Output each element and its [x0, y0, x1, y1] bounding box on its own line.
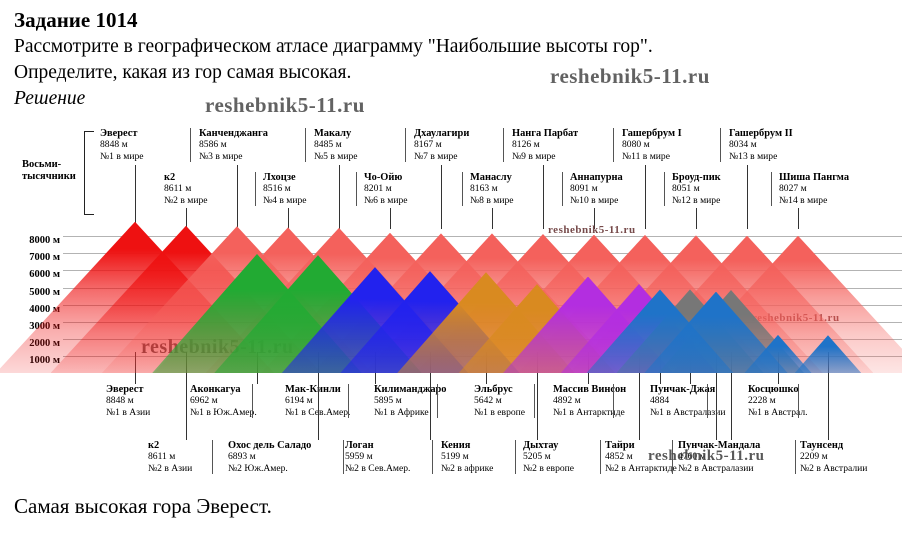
peak-height: 6194 м: [285, 395, 313, 406]
watermark: reshebnik5-11.ru: [648, 448, 765, 465]
peak-rank: №6 в мире: [364, 195, 408, 206]
peak-name: Манаслу: [470, 172, 512, 183]
y-axis-tick-5000: 5000 м: [0, 282, 60, 300]
group-label-line2: тысячники: [22, 171, 76, 182]
peak-rank: №11 в мире: [622, 151, 670, 162]
y-axis-tick-label: 6000 м: [29, 269, 60, 280]
peak-name: Пунчак-Джая: [650, 384, 715, 395]
label-separator-9: [432, 440, 433, 474]
peak-height: 8027 м: [779, 183, 807, 194]
peak-name: Тайри: [605, 440, 635, 451]
peak-height: 8080 м: [622, 139, 650, 150]
peak-height: 8611 м: [164, 183, 191, 194]
peak-name: Массив Винсон: [553, 384, 626, 395]
peak-height: 5199 м: [441, 451, 469, 462]
peak-rank: №2 в мире: [164, 195, 208, 206]
peak-height: 5205 м: [523, 451, 551, 462]
peak-label: Броуд-пик8051 м№12 в мире: [672, 172, 721, 206]
peak-label: Гашербрум II8034 м№13 в мире: [729, 128, 793, 162]
peak-rank: №2 в Азии: [148, 463, 192, 474]
peak-rank: №3 в мире: [199, 151, 243, 162]
peak-name: Килиманджаро: [374, 384, 447, 395]
peak-label: Дыхтау5205 м№2 в европе: [523, 440, 574, 474]
top-label-separator-5: [720, 128, 721, 162]
leader-line: [339, 165, 340, 229]
peak-height: 8586 м: [199, 139, 227, 150]
peak-height: 8516 м: [263, 183, 291, 194]
peak-height: 8611 м: [148, 451, 175, 462]
peak-name: Канченджанга: [199, 128, 268, 139]
peak-name: Таунсенд: [800, 440, 843, 451]
peak-label: Лхоцзе8516 м№4 в мире: [263, 172, 307, 206]
peak-height: 2228 м: [748, 395, 776, 406]
leader-line: [696, 208, 697, 229]
peak-rank: №1 в Австралазии: [650, 407, 726, 418]
peak-name: Гашербрум II: [729, 128, 793, 139]
peak-label: Эверест8848 м№1 в Азии: [106, 384, 150, 418]
top-label-separator-3: [503, 128, 504, 162]
peak-name: Шиша Пангма: [779, 172, 849, 183]
peak-height: 8848 м: [106, 395, 134, 406]
peak-name: Эверест: [106, 384, 144, 395]
leader-line: [237, 165, 238, 229]
label-separator-1: [348, 384, 349, 418]
peak-height: 8126 м: [512, 139, 540, 150]
peak-height: 8051 м: [672, 183, 700, 194]
peak-height: 5959 м: [345, 451, 373, 462]
peak-height: 8485 м: [314, 139, 342, 150]
group-label: Восьми- тысячники: [22, 159, 82, 183]
peak-height: 8034 м: [729, 139, 757, 150]
leader-line: [390, 208, 391, 229]
peak-rank: №10 в мире: [570, 195, 618, 206]
peak-label: Дхаулагири8167 м№7 в мире: [414, 128, 469, 162]
label-separator-11: [600, 440, 601, 474]
question-line-2: Определите, какая из гор самая высокая.: [14, 62, 351, 84]
peak-height: 4852 м: [605, 451, 633, 462]
top-label-separator-1: [305, 128, 306, 162]
peak-name: Мак-Кинли: [285, 384, 341, 395]
peak-name: Охос дель Саладо: [228, 440, 311, 451]
peak-label: к28611 м№2 в Азии: [148, 440, 192, 474]
label-separator-10: [515, 440, 516, 474]
y-axis-tick-label: 7000 м: [29, 252, 60, 263]
group-bracket: [84, 131, 94, 215]
peak-name: к2: [164, 172, 175, 183]
peak-name: Эльбрус: [474, 384, 513, 395]
peak-label: Логан5959 м№2 в Сев.Амер.: [345, 440, 410, 474]
y-axis-tick-label: 5000 м: [29, 287, 60, 298]
top-label-separator-8: [462, 172, 463, 206]
peak-label: Пунчак-Джая4884№1 в Австралазии: [650, 384, 726, 418]
peak-name: Нанга Парбат: [512, 128, 578, 139]
leader-line: [492, 208, 493, 229]
peak-name: к2: [148, 440, 159, 451]
leader-line: [441, 165, 442, 229]
y-axis-tick-7000: 7000 м: [0, 247, 60, 265]
leader-line: [186, 208, 187, 229]
peak-height: 8167 м: [414, 139, 442, 150]
peak-height: 8091 м: [570, 183, 598, 194]
leader-line: [798, 208, 799, 229]
peak-rank: №2 в Австралии: [800, 463, 867, 474]
peak-rank: №1 в Азии: [106, 407, 150, 418]
top-label-separator-4: [613, 128, 614, 162]
peak-label: Эверест8848 м№1 в мире: [100, 128, 144, 162]
peak-label: к28611 м№2 в мире: [164, 172, 208, 206]
peak-rank: №5 в мире: [314, 151, 358, 162]
label-separator-7: [212, 440, 213, 474]
peak-name: Логан: [345, 440, 374, 451]
top-label-separator-11: [771, 172, 772, 206]
watermark: reshebnik5-11.ru: [550, 64, 710, 89]
peak-rank: №1 в европе: [474, 407, 525, 418]
watermark: reshebnik5-11.ru: [205, 93, 365, 118]
leader-line: [543, 165, 544, 229]
peak-rank: №1 в Юж.Амер.: [190, 407, 257, 418]
label-separator-5: [707, 384, 708, 418]
peak-name: Чо-Ойю: [364, 172, 402, 183]
peak-label: Аконкагуа6962 м№1 в Юж.Амер.: [190, 384, 257, 418]
label-separator-6: [798, 384, 799, 418]
peak-name: Кения: [441, 440, 470, 451]
peak-rank: №8 в мире: [470, 195, 514, 206]
peak-name: Броуд-пик: [672, 172, 721, 183]
worksheet-page: Задание 1014 Рассмотрите в географическо…: [0, 0, 902, 553]
peak-height: 5642 м: [474, 395, 502, 406]
peak-rank: №14 в мире: [779, 195, 827, 206]
label-separator-3: [534, 384, 535, 418]
peak-name: Дхаулагири: [414, 128, 469, 139]
leader-line: [135, 165, 136, 229]
leader-line: [747, 165, 748, 229]
label-separator-4: [613, 384, 614, 418]
peak-label: Шиша Пангма8027 м№14 в мире: [779, 172, 849, 206]
label-separator-2: [437, 384, 438, 418]
peak-height: 8848 м: [100, 139, 128, 150]
group-label-line1: Восьми-: [22, 159, 61, 170]
y-axis-tick-6000: 6000 м: [0, 264, 60, 282]
peak-label: Охос дель Саладо6893 м№2 Юж.Амер.: [228, 440, 311, 474]
peak-height: 6962 м: [190, 395, 218, 406]
peak-rank: №1 в Африке: [374, 407, 429, 418]
peak-rank: №2 в афpике: [441, 463, 493, 474]
peak-rank: №12 в мире: [672, 195, 720, 206]
peak-label: Макалу8485 м№5 в мире: [314, 128, 358, 162]
top-label-separator-2: [405, 128, 406, 162]
label-separator-8: [343, 440, 344, 474]
solution-label: Решение: [14, 88, 85, 110]
peak-name: Эверест: [100, 128, 138, 139]
peak-label: Килиманджаро5895 м№1 в Африке: [374, 384, 447, 418]
watermark: reshebnik5-11.ru: [548, 224, 636, 236]
leader-line: [288, 208, 289, 229]
top-label-separator-0: [190, 128, 191, 162]
peak-label: Манаслу8163 м№8 в мире: [470, 172, 514, 206]
peak-label: Массив Винсон4892 м№1 в Антарктиде: [553, 384, 626, 418]
page-title: Задание 1014: [14, 8, 137, 33]
answer-text: Самая высокая гора Эверест.: [14, 494, 272, 519]
top-label-separator-6: [255, 172, 256, 206]
leader-line: [645, 165, 646, 229]
peak-name: Лхоцзе: [263, 172, 296, 183]
peak-height: 5895 м: [374, 395, 402, 406]
peak-label: Кения5199 м№2 в афpике: [441, 440, 493, 474]
peak-rank: №9 в мире: [512, 151, 556, 162]
top-label-separator-10: [664, 172, 665, 206]
question-line-1: Рассмотрите в географическом атласе диаг…: [14, 36, 653, 58]
peak-name: Аннапурна: [570, 172, 623, 183]
peak-rank: №2 в Сев.Амер.: [345, 463, 410, 474]
peak-name: Гашербрум I: [622, 128, 682, 139]
peak-label: Аннапурна8091 м№10 в мире: [570, 172, 623, 206]
peak-name: Косцюшко: [748, 384, 799, 395]
peak-name: Аконкагуа: [190, 384, 241, 395]
top-label-separator-7: [356, 172, 357, 206]
peak-label: Таунсенд2209 м№2 в Австралии: [800, 440, 867, 474]
peak-rank: №2 в европе: [523, 463, 574, 474]
peak-label: Чо-Ойю8201 м№6 в мире: [364, 172, 408, 206]
peak-height: 8163 м: [470, 183, 498, 194]
peak-label: Канченджанга8586 м№3 в мире: [199, 128, 268, 162]
y-axis-tick-8000: 8000 м: [0, 230, 60, 248]
peak-rank: №7 в мире: [414, 151, 458, 162]
peak-rank: №13 в мире: [729, 151, 777, 162]
peak-height: 8201 м: [364, 183, 392, 194]
peak-name: Дыхтау: [523, 440, 558, 451]
peak-name: Макалу: [314, 128, 351, 139]
mountain-chart: 8000 м7000 м6000 м5000 м4000 м3000 м2000…: [0, 228, 902, 376]
peak-label: Нанга Парбат8126 м№9 в мире: [512, 128, 578, 162]
peak-height: 4892 м: [553, 395, 581, 406]
peak-rank: №2 Юж.Амер.: [228, 463, 288, 474]
y-axis-tick-label: 8000 м: [29, 235, 60, 246]
peak-height: 2209 м: [800, 451, 828, 462]
label-separator-13: [795, 440, 796, 474]
peak-height: 6893 м: [228, 451, 256, 462]
peak-height: 4884: [650, 395, 669, 406]
peak-label: Эльбрус5642 м№1 в европе: [474, 384, 525, 418]
top-label-separator-9: [562, 172, 563, 206]
peak-rank: №4 в мире: [263, 195, 307, 206]
label-separator-0: [252, 384, 253, 418]
peak-rank: №1 в мире: [100, 151, 144, 162]
peak-label: Гашербрум I8080 м№11 в мире: [622, 128, 682, 162]
